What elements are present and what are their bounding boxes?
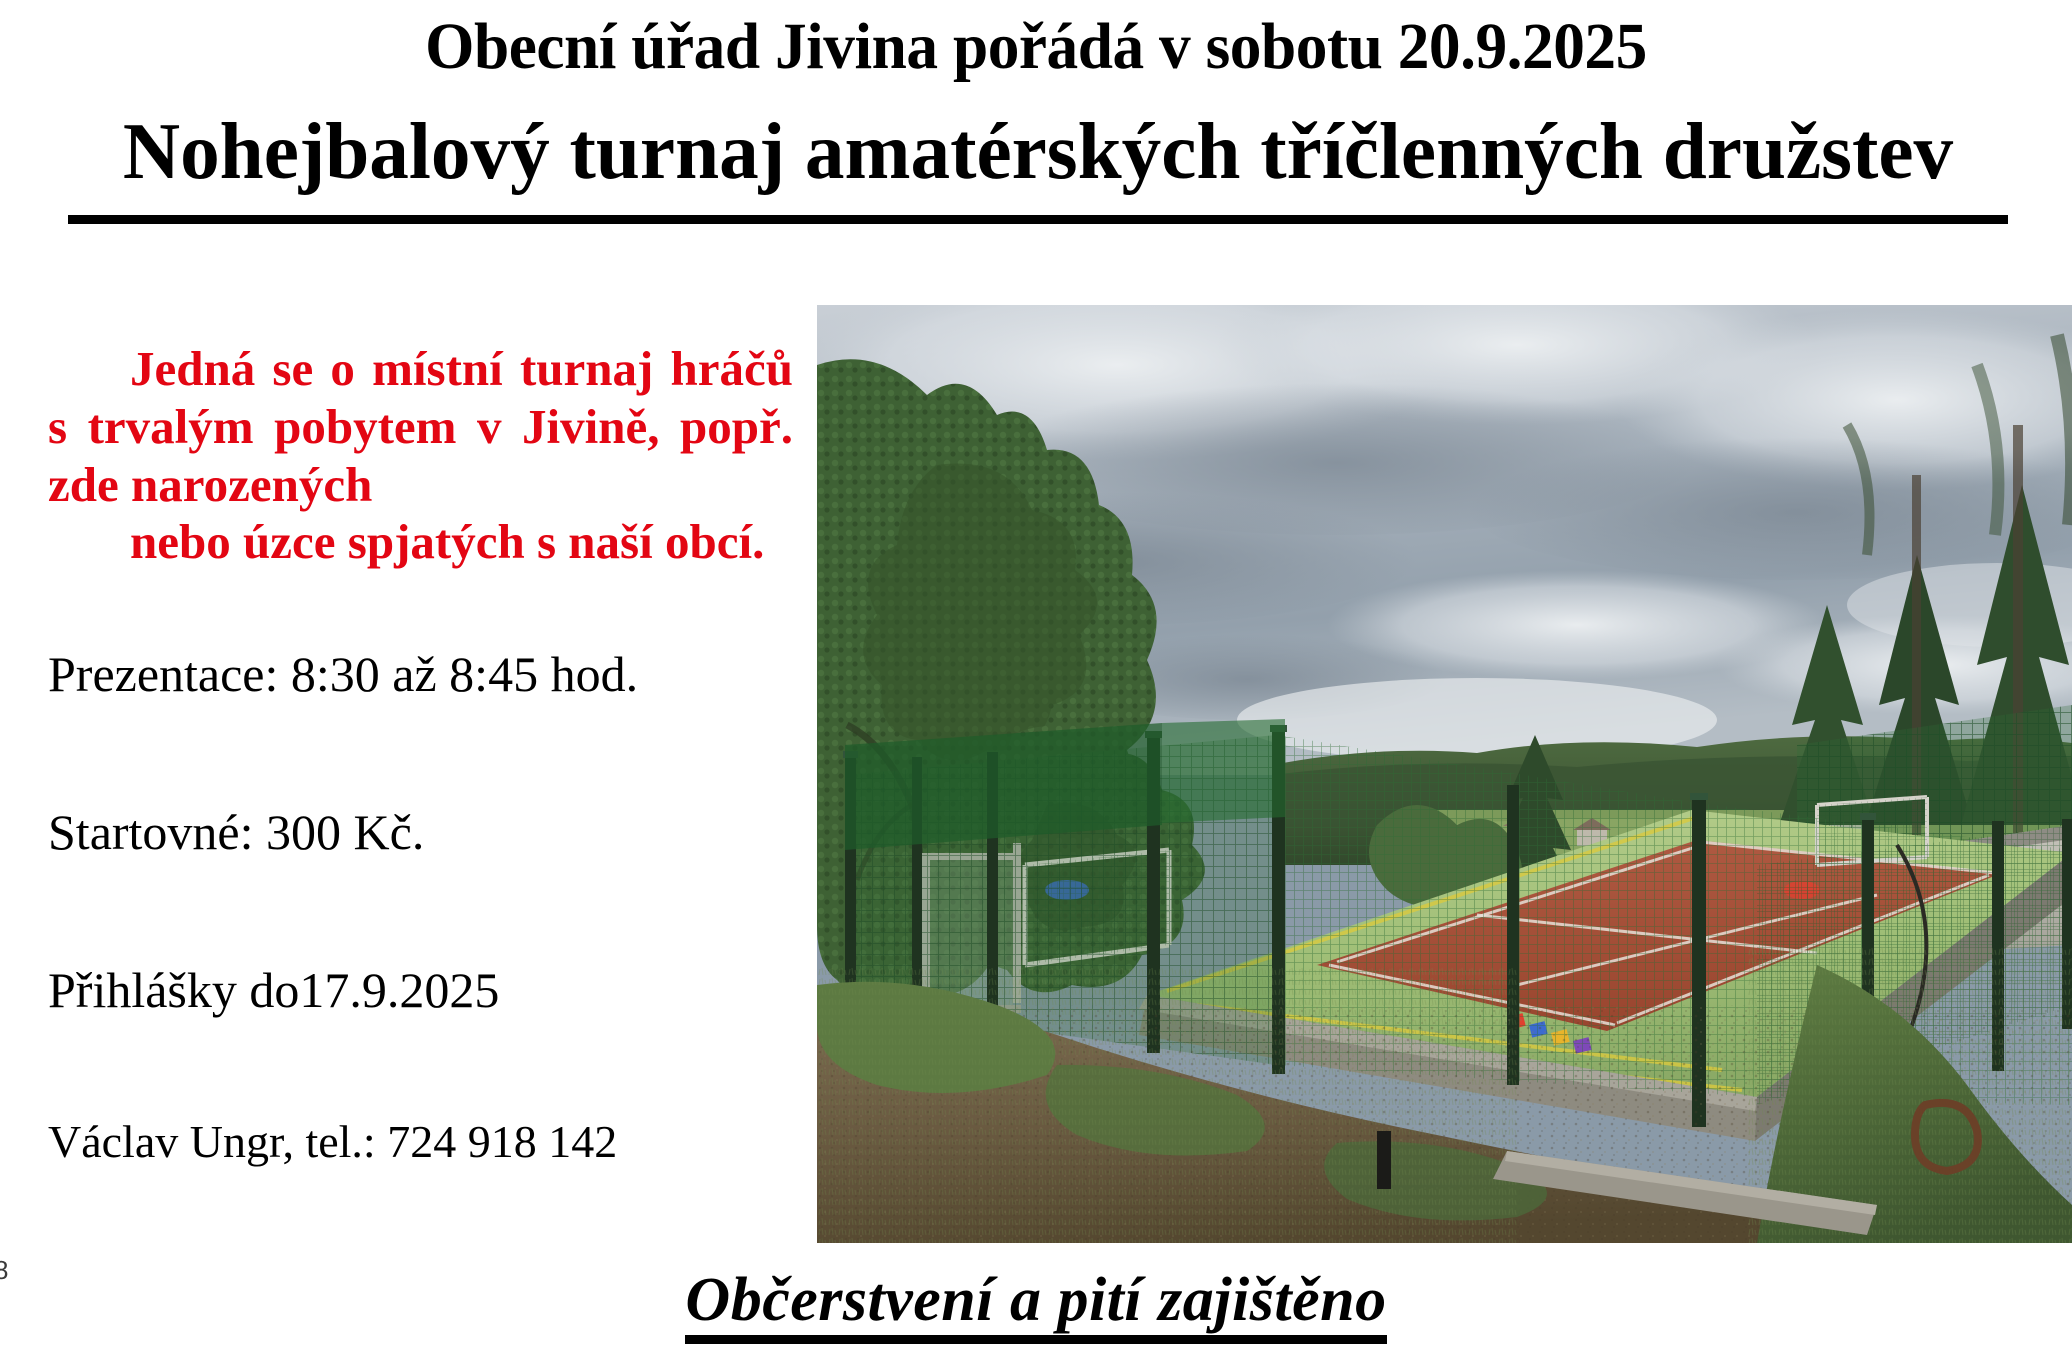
detail-signup-deadline: Přihlášky do17.9.2025	[48, 965, 793, 1015]
intro-paragraph: Jedná se o místní turnaj hráčů s trvalým…	[48, 340, 793, 571]
footer-wrap: Občerstvení a pití zajištěno	[0, 1268, 2072, 1344]
ground-post	[1377, 1131, 1391, 1189]
court-photograph	[817, 305, 2072, 1243]
detail-entry-fee: Startovné: 300 Kč.	[48, 807, 793, 857]
poster-heading-primary: Obecní úřad Jivina pořádá v sobotu 20.9.…	[41, 14, 2030, 80]
event-details-list: Prezentace: 8:30 až 8:45 hod. Startovné:…	[48, 649, 793, 1165]
poster-heading-secondary: Nohejbalový turnaj amatérských tříčlenný…	[72, 112, 2004, 192]
text-column: Jedná se o místní turnaj hráčů s trvalým…	[48, 340, 793, 1165]
detail-contact-person: Václav Ungr, tel.: 724 918 142	[48, 1119, 793, 1165]
intro-paragraph-part2: nebo úzce spjatých s naší obcí.	[48, 513, 793, 571]
intro-paragraph-part1: Jedná se o místní turnaj hráčů s trvalým…	[48, 341, 793, 512]
footer-refreshments-note: Občerstvení a pití zajištěno	[685, 1268, 1386, 1344]
heading-underline	[68, 215, 2008, 224]
poster-root: Obecní úřad Jivina pořádá v sobotu 20.9.…	[0, 0, 2072, 1367]
detail-registration-time: Prezentace: 8:30 až 8:45 hod.	[48, 649, 793, 699]
